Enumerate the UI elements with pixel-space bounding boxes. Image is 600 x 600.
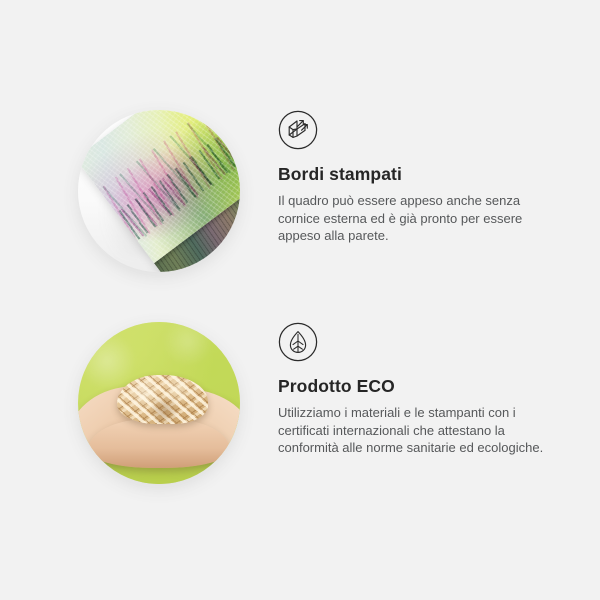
hands-holding-wood-chips-photo [78,322,240,484]
feature-description: Il quadro può essere appeso anche senza … [278,192,546,245]
feature-block-printed-edges: Bordi stampati Il quadro può essere appe… [0,110,600,280]
grass-background [78,322,240,484]
wood-chips-pile [117,375,208,424]
printed-edges-icon [278,110,318,150]
media-column [0,322,278,492]
media-column [0,110,278,280]
text-column: Prodotto ECO Utilizziamo i materiali e l… [278,322,600,457]
feature-title: Prodotto ECO [278,376,556,397]
feature-block-eco-product: Prodotto ECO Utilizziamo i materiali e l… [0,322,600,492]
text-column: Bordi stampati Il quadro può essere appe… [278,110,600,245]
leaf-icon [278,322,318,362]
canvas-print-corner-photo [78,110,240,272]
fingers [88,419,231,468]
feature-description: Utilizziamo i materiali e le stampanti c… [278,404,546,457]
canvas-photo-background [78,110,240,272]
feature-panel: Bordi stampati Il quadro può essere appe… [0,0,600,600]
feature-title: Bordi stampati [278,164,556,185]
